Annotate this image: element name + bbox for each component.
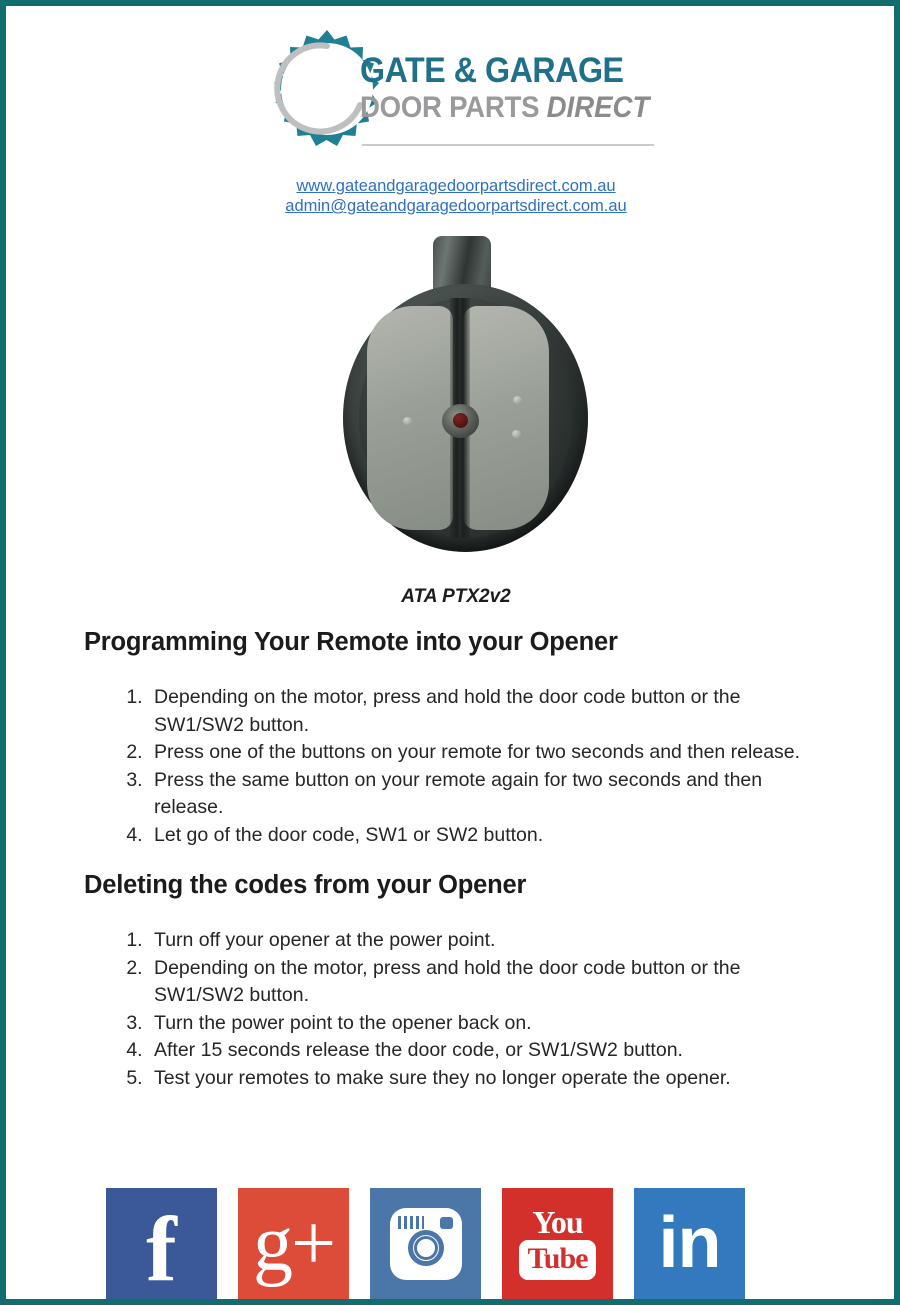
remote-led-icon [453,413,468,428]
deleting-steps-list: Turn off your opener at the power point.… [110,927,830,1092]
remote-dot [512,430,521,438]
youtube-icon[interactable]: You Tube [502,1188,613,1299]
contact-links: www.gateandgaragedoorpartsdirect.com.au … [6,176,900,216]
list-item: Let go of the door code, SW1 or SW2 butt… [148,822,830,850]
programming-steps-list: Depending on the motor, press and hold t… [110,684,830,849]
facebook-icon[interactable]: f [106,1188,217,1299]
logo-line-1: GATE & GARAGE [360,52,636,90]
section-heading-deleting: Deleting the codes from your Opener [84,871,526,900]
instagram-icon[interactable] [370,1188,481,1299]
list-item: Depending on the motor, press and hold t… [148,684,830,739]
list-item: Turn the power point to the opener back … [148,1010,830,1038]
logo-word-direct: DIRECT [547,91,650,124]
list-item: Depending on the motor, press and hold t… [148,955,830,1010]
instagram-flash [440,1217,453,1229]
instagram-stripes [398,1216,424,1229]
list-item: After 15 seconds release the door code, … [148,1037,830,1065]
email-link[interactable]: admin@gateandgaragedoorpartsdirect.com.a… [6,196,900,216]
list-item: Turn off your opener at the power point. [148,927,830,955]
logo-underline [362,144,654,146]
linkedin-glyph: in [659,1213,721,1274]
facebook-glyph: f [146,1213,177,1287]
flyer-page: GATE & GARAGE DOOR PARTS DIRECT www.gate… [0,0,900,1305]
google-plus-glyph: g+ [253,1208,334,1280]
logo-line-2: DOOR PARTS DIRECT [360,92,636,124]
remote-dot [513,396,522,404]
product-model-label: ATA PTX2v2 [6,586,900,608]
section-heading-programming: Programming Your Remote into your Opener [84,628,618,657]
instagram-lens-inner [414,1236,438,1260]
youtube-wordmark: You Tube [519,1207,597,1280]
list-item: Test your remotes to make sure they no l… [148,1065,830,1093]
remote-dot [403,417,412,425]
google-plus-icon[interactable]: g+ [238,1188,349,1299]
instagram-camera-shape [390,1208,462,1280]
linkedin-icon[interactable]: in [634,1188,745,1299]
list-item: Press one of the buttons on your remote … [148,739,830,767]
youtube-line-tube: Tube [519,1240,597,1280]
youtube-line-you: You [532,1207,582,1237]
product-photo [336,236,596,556]
list-item: Press the same button on your remote aga… [148,767,830,822]
website-link[interactable]: www.gateandgaragedoorpartsdirect.com.au [6,176,900,196]
remote-body [343,284,588,552]
social-links-bar: f g+ You Tube in [106,1188,766,1299]
company-logo: GATE & GARAGE DOOR PARTS DIRECT [6,24,900,174]
logo-line-2-part1: DOOR PARTS [360,91,547,124]
